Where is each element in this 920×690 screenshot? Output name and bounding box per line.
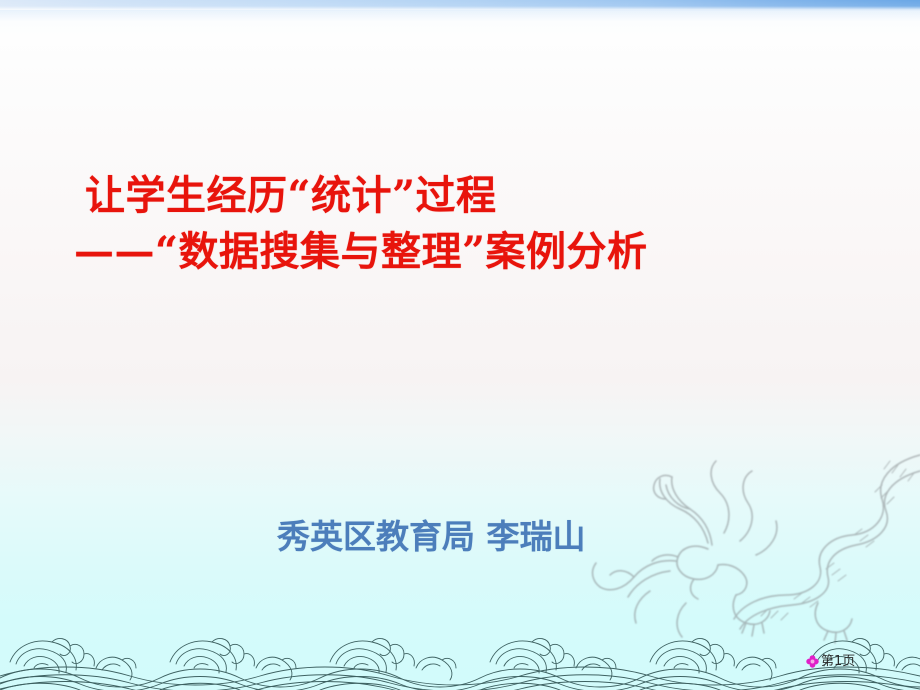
flower-icon (806, 655, 819, 668)
slide-title: 让学生经历“统计”过程 ——“数据搜集与整理”案例分析 (74, 168, 814, 280)
presentation-slide: 让学生经历“统计”过程 ——“数据搜集与整理”案例分析 秀英区教育局 李瑞山 第… (0, 0, 920, 690)
top-band-fade (0, 10, 920, 36)
wave-pattern-decoration (0, 620, 920, 690)
page-indicator[interactable]: 第1页 (806, 655, 855, 668)
page-number-label: 第1页 (821, 655, 855, 668)
title-line-1: 让学生经历“统计”过程 (74, 168, 814, 224)
slide-subtitle-author: 秀英区教育局 李瑞山 (277, 514, 586, 560)
title-line-2: ——“数据搜集与整理”案例分析 (74, 224, 814, 280)
